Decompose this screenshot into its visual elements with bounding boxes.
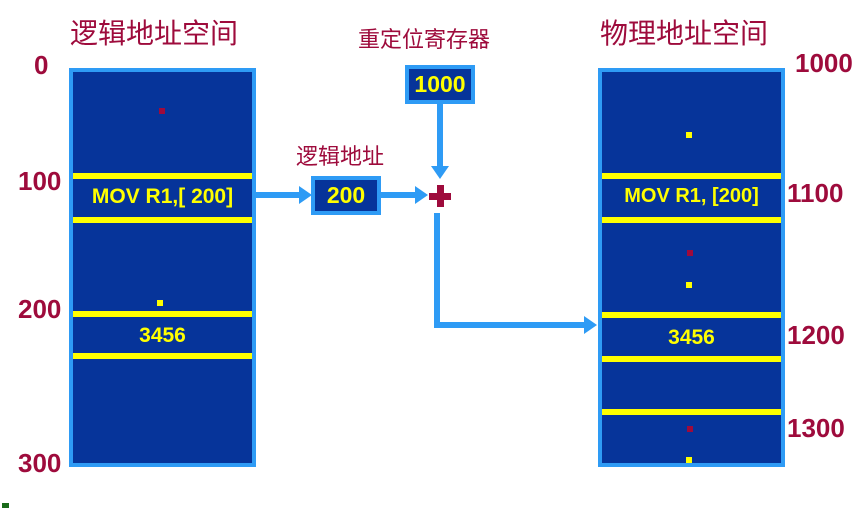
physical-divider-1200-top <box>602 312 781 318</box>
marker-dot-icon <box>687 250 693 256</box>
marker-dot-icon <box>686 282 692 288</box>
adder-plus-icon <box>429 185 451 207</box>
physical-space-title: 物理地址空间 <box>600 12 768 52</box>
logical-address-title: 逻辑地址 <box>296 139 384 171</box>
logical-divider-below-instruction <box>73 217 252 223</box>
marker-dot-icon <box>157 300 163 306</box>
arrow-adder-right-segment <box>434 322 584 328</box>
corner-artifact <box>2 503 9 508</box>
marker-dot-icon <box>686 132 692 138</box>
logical-divider-200 <box>73 311 252 317</box>
relocation-register-box[interactable]: 1000 <box>405 65 475 104</box>
logical-address-label-100: 100 <box>18 168 61 194</box>
logical-address-label-300: 300 <box>18 450 61 476</box>
arrowhead-right-icon <box>584 316 597 334</box>
physical-address-label-1200: 1200 <box>787 322 845 348</box>
logical-cell-instruction: MOV R1,[ 200] <box>73 186 252 207</box>
physical-divider-1200-bottom <box>602 356 781 362</box>
arrow-adder-down-segment <box>434 213 440 328</box>
marker-dot-icon <box>159 108 165 114</box>
physical-address-label-1100: 1100 <box>787 180 843 206</box>
physical-divider-below-instruction <box>602 217 781 223</box>
logical-cell-data: 3456 <box>73 325 252 346</box>
logical-divider-below-data <box>73 353 252 359</box>
arrow-relocation-to-adder <box>437 104 443 166</box>
physical-cell-instruction: MOV R1, [200] <box>602 186 781 206</box>
physical-address-label-1300: 1300 <box>787 415 845 441</box>
logical-address-label-200: 200 <box>18 296 61 322</box>
arrowhead-down-icon <box>431 166 449 179</box>
logical-address-label-0: 0 <box>34 52 48 78</box>
logical-address-value: 200 <box>327 184 365 207</box>
arrowhead-right-icon <box>415 186 428 204</box>
marker-dot-icon <box>686 457 692 463</box>
logical-memory-block[interactable]: MOV R1,[ 200] 3456 <box>69 68 256 467</box>
arrow-instruction-to-logical-address <box>256 192 299 198</box>
arrow-logical-address-to-adder <box>381 192 415 198</box>
physical-memory-block[interactable]: MOV R1, [200] 3456 <box>598 68 785 467</box>
physical-divider-1300 <box>602 409 781 415</box>
logical-space-title: 逻辑地址空间 <box>70 12 238 52</box>
physical-address-label-1000: 1000 <box>795 50 853 76</box>
diagram-canvas: 逻辑地址空间 重定位寄存器 逻辑地址 物理地址空间 MOV R1,[ 200] … <box>0 0 865 511</box>
physical-divider-1100 <box>602 173 781 179</box>
logical-address-box[interactable]: 200 <box>311 176 381 215</box>
relocation-register-title: 重定位寄存器 <box>358 22 490 54</box>
logical-divider-100 <box>73 173 252 179</box>
relocation-register-value: 1000 <box>414 73 465 96</box>
physical-cell-data: 3456 <box>602 327 781 348</box>
marker-dot-icon <box>687 426 693 432</box>
